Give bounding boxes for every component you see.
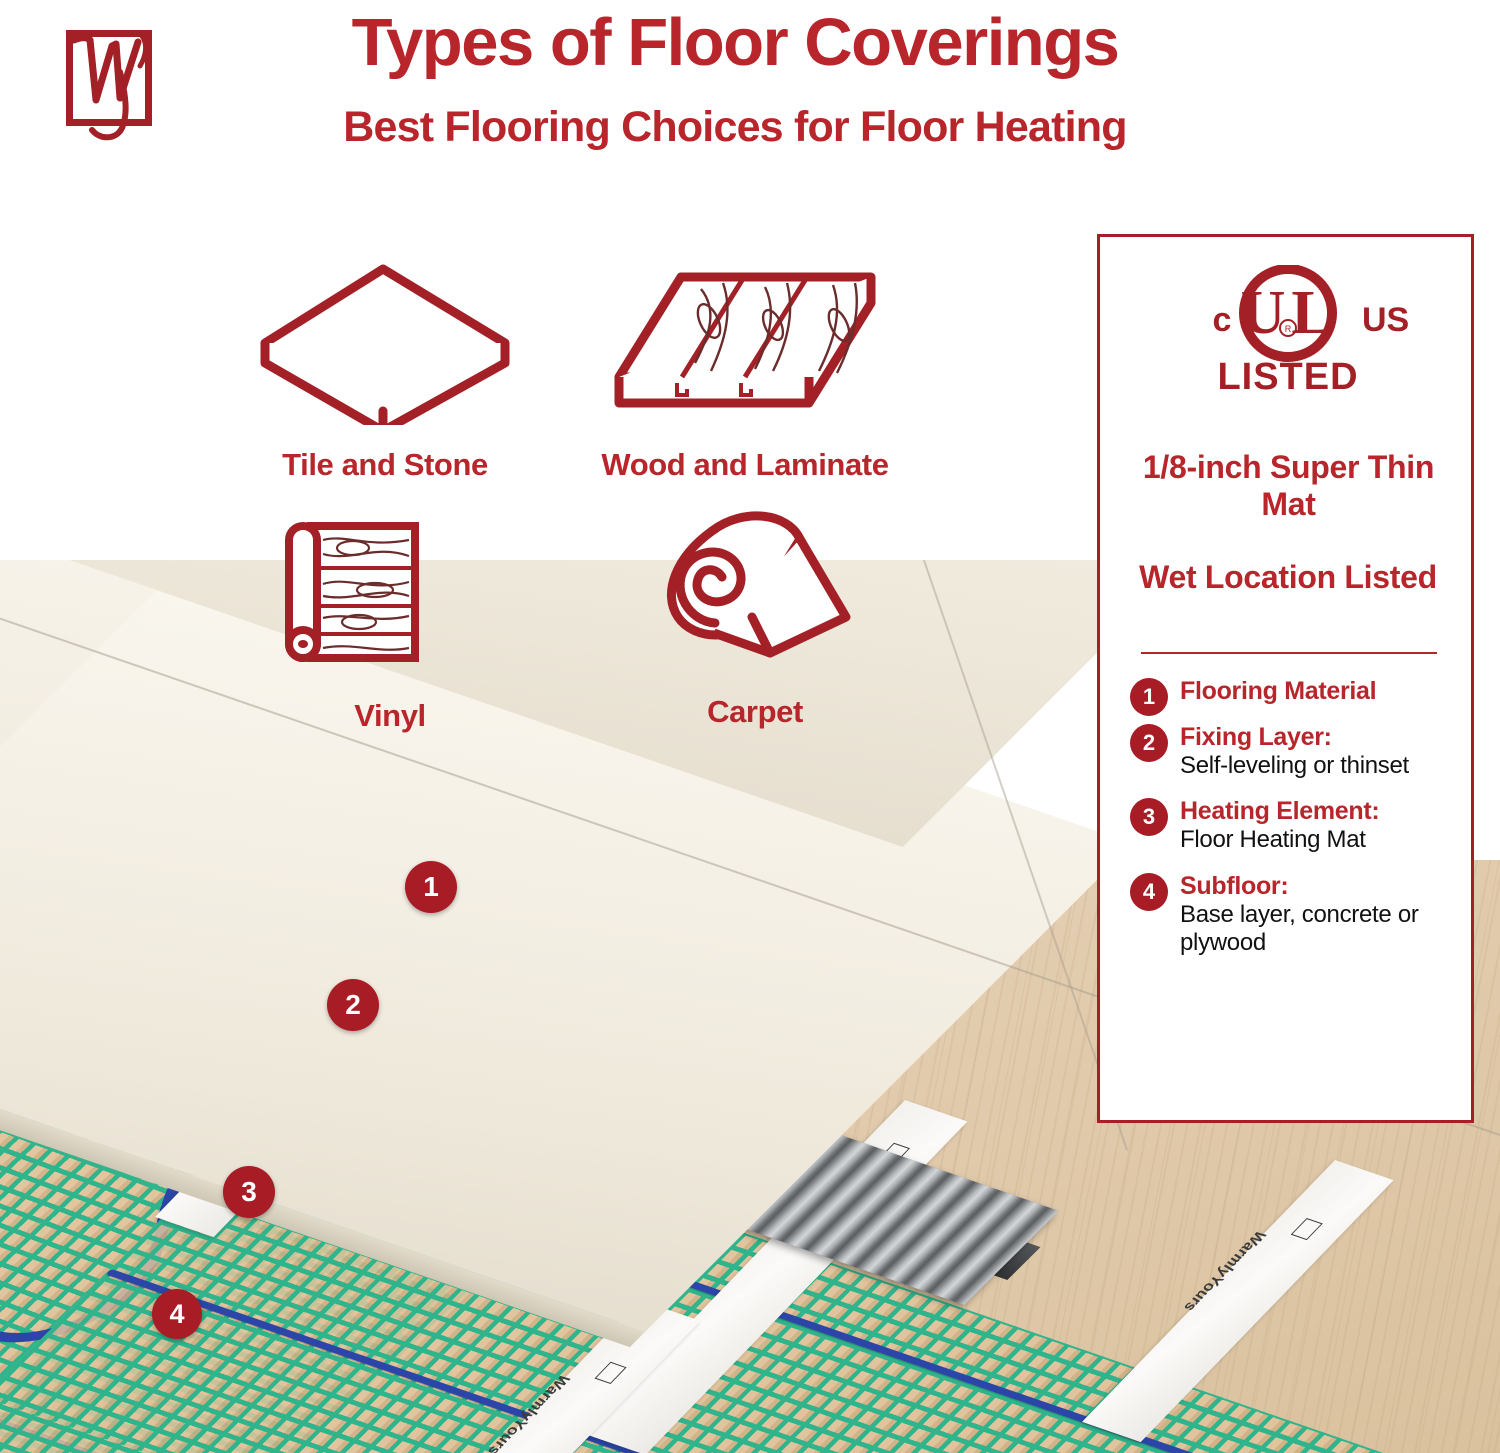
legend-item-fixing-layer: 2 Fixing Layer: Self-leveling or thinset xyxy=(1124,723,1464,780)
covering-tile-and-stone[interactable]: Tile and Stone xyxy=(230,255,540,483)
infographic-canvas: Types of Floor Coverings Best Flooring C… xyxy=(0,0,1500,1453)
legend-title: Heating Element: xyxy=(1180,797,1464,826)
legend-number: 4 xyxy=(1143,879,1155,905)
legend-item-flooring-material: 1 Flooring Material xyxy=(1124,677,1464,706)
legend-item-heating-element: 3 Heating Element: Floor Heating Mat xyxy=(1124,797,1464,854)
wood-laminate-icon xyxy=(605,255,885,425)
tape-logo-icon xyxy=(594,1362,626,1384)
info-panel: U L R c US LISTED 1/8-inch Super Thin Ma… xyxy=(1097,234,1474,1123)
covering-carpet[interactable]: Carpet xyxy=(560,505,950,730)
panel-heading-thin-mat: 1/8-inch Super Thin Mat xyxy=(1122,449,1455,523)
callout-1-flooring-material: 1 xyxy=(405,861,457,913)
callout-4-subfloor: 4 xyxy=(152,1289,202,1339)
panel-divider xyxy=(1141,652,1437,654)
page-subtitle: Best Flooring Choices for Floor Heating xyxy=(190,104,1280,151)
callout-3-heating-element: 3 xyxy=(223,1166,275,1218)
legend-badge-2: 2 xyxy=(1130,724,1168,762)
svg-text:U: U xyxy=(1241,279,1286,347)
carpet-roll-icon xyxy=(620,505,890,680)
ul-listed-mark: U L R c US LISTED xyxy=(1100,265,1471,395)
legend-item-subfloor: 4 Subfloor: Base layer, concrete or plyw… xyxy=(1124,872,1464,958)
floor-covering-icons: Tile and Stone xyxy=(230,255,950,765)
ul-listed-icon: U L R c US LISTED xyxy=(1100,265,1477,395)
svg-text:c: c xyxy=(1213,301,1232,339)
legend-number: 2 xyxy=(1143,730,1155,756)
covering-vinyl[interactable]: Vinyl xyxy=(240,500,540,734)
legend-number: 3 xyxy=(1143,804,1155,830)
callout-2-fixing-layer: 2 xyxy=(327,979,379,1031)
callout-number: 1 xyxy=(423,871,439,903)
page-title: Types of Floor Coverings xyxy=(190,8,1280,78)
svg-text:R: R xyxy=(1285,324,1292,334)
svg-text:US: US xyxy=(1362,301,1409,339)
covering-label: Vinyl xyxy=(240,698,540,734)
legend-subtitle: Floor Heating Mat xyxy=(1180,826,1464,854)
legend-badge-1: 1 xyxy=(1130,678,1168,716)
vinyl-roll-icon xyxy=(275,500,505,680)
tape-logo-icon xyxy=(1291,1218,1323,1240)
legend-subtitle: Self-leveling or thinset xyxy=(1180,752,1464,780)
legend-title: Subfloor: xyxy=(1180,872,1464,901)
layer-legend-list: 1 Flooring Material 2 Fixing Layer: Self… xyxy=(1124,677,1464,974)
tile-stone-icon xyxy=(255,255,515,425)
covering-wood-and-laminate[interactable]: Wood and Laminate xyxy=(540,255,950,483)
legend-badge-4: 4 xyxy=(1130,873,1168,911)
legend-title: Fixing Layer: xyxy=(1180,723,1464,752)
legend-number: 1 xyxy=(1143,684,1155,710)
callout-number: 3 xyxy=(241,1176,257,1208)
svg-text:L: L xyxy=(1291,279,1332,347)
covering-label: Carpet xyxy=(560,694,950,730)
logo-wy-monogram-icon xyxy=(56,22,166,142)
legend-badge-3: 3 xyxy=(1130,798,1168,836)
legend-title: Flooring Material xyxy=(1180,677,1464,706)
legend-subtitle: Base layer, concrete or plywood xyxy=(1180,901,1464,958)
callout-number: 2 xyxy=(345,989,361,1021)
svg-text:LISTED: LISTED xyxy=(1217,356,1358,395)
callout-number: 4 xyxy=(169,1299,184,1330)
covering-label: Wood and Laminate xyxy=(540,447,950,483)
covering-label: Tile and Stone xyxy=(230,447,540,483)
warmlyyours-logo xyxy=(48,18,172,144)
panel-heading-wet-location: Wet Location Listed xyxy=(1138,559,1438,596)
